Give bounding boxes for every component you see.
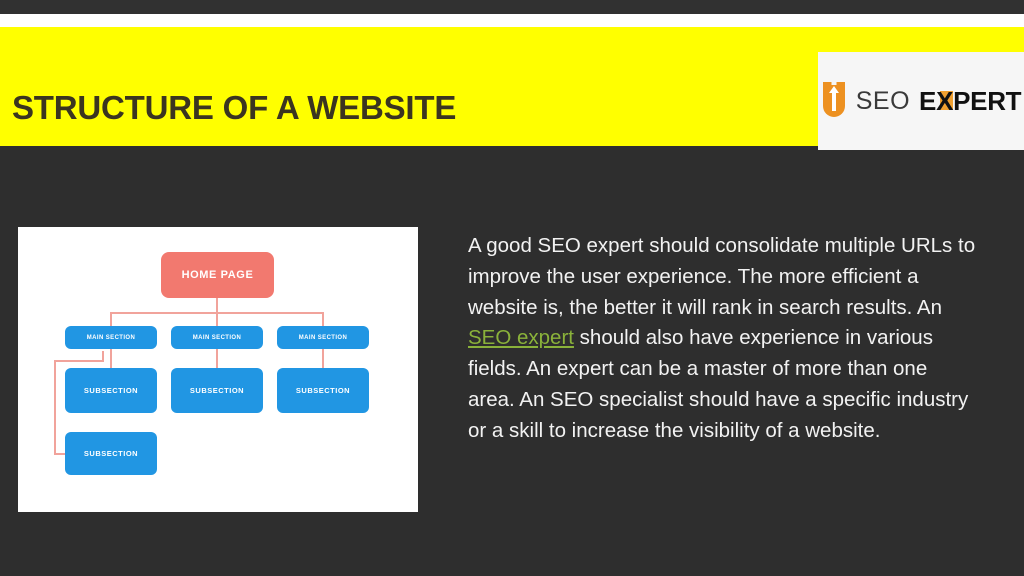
diagram-node-main-section-3: MAIN SECTION [277,326,369,349]
diagram-node-subsection-4: SUBSECTION [65,432,157,475]
logo-expert-a: E [919,86,936,116]
top-dark-band [0,0,1024,14]
diagram-canvas: HOME PAGE MAIN SECTION MAIN SECTION MAIN… [18,227,418,512]
connector-left-branch-vertical [54,360,56,455]
connector-bus-mid-down [216,312,218,327]
connector-main2-sub2 [216,349,218,368]
brand-logo: SEO EXPERT [818,52,1024,150]
diagram-node-subsection-2: SUBSECTION [171,368,263,413]
connector-bus-left-down [110,312,112,327]
diagram-node-label: SUBSECTION [296,386,350,395]
diagram-node-label: SUBSECTION [84,386,138,395]
diagram-node-home-page: HOME PAGE [161,252,274,298]
website-structure-diagram: HOME PAGE MAIN SECTION MAIN SECTION MAIN… [18,227,418,512]
diagram-node-label: MAIN SECTION [87,335,135,341]
diagram-node-subsection-1: SUBSECTION [65,368,157,413]
diagram-node-main-section-1: MAIN SECTION [65,326,157,349]
logo-text-expert: EXPERT [919,86,1021,117]
connector-bus-right-down [322,312,324,327]
top-white-divider [0,14,1024,27]
logo-expert-x: X [936,86,953,116]
diagram-node-subsection-3: SUBSECTION [277,368,369,413]
connector-home-down [216,298,218,313]
connector-left-branch-top [54,360,104,362]
paragraph-text-before-link: A good SEO expert should consolidate mul… [468,234,975,319]
page-title: STRUCTURE OF A WEBSITE [12,89,456,127]
diagram-node-label: SUBSECTION [190,386,244,395]
diagram-node-main-section-2: MAIN SECTION [171,326,263,349]
logo-expert-b: PERT [953,86,1021,116]
diagram-node-label: MAIN SECTION [299,335,347,341]
shield-up-arrow-icon [821,80,847,122]
connector-main3-sub3 [322,349,324,368]
diagram-node-label: SUBSECTION [84,449,138,458]
diagram-node-label: MAIN SECTION [193,335,241,341]
connector-main1-sub1 [110,349,112,368]
body-paragraph: A good SEO expert should consolidate mul… [468,231,976,447]
logo-text-seo: SEO [856,87,910,116]
seo-expert-link[interactable]: SEO expert [468,326,574,349]
diagram-node-label: HOME PAGE [182,269,254,281]
